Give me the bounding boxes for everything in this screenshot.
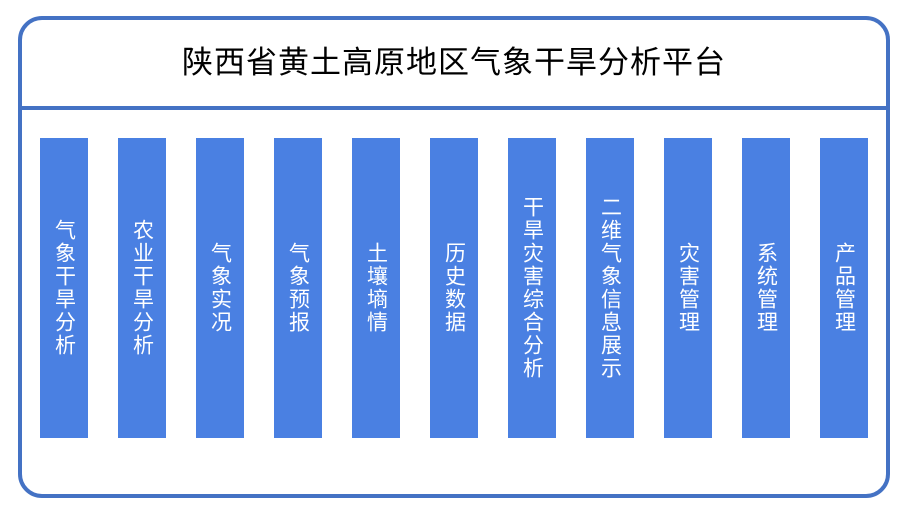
module-bar-label: 系统管理: [753, 242, 780, 334]
module-bar-weather-forecast[interactable]: 气象预报: [274, 138, 322, 438]
page-title: 陕西省黄土高原地区气象干旱分析平台: [182, 46, 726, 80]
title-band: 陕西省黄土高原地区气象干旱分析平台: [22, 20, 886, 106]
module-bar-label: 灾害管理: [675, 242, 702, 334]
diagram-canvas: 陕西省黄土高原地区气象干旱分析平台 气象干旱分析 农业干旱分析 气象实况 气象预…: [0, 0, 908, 517]
module-bar-strip: 气象干旱分析 农业干旱分析 气象实况 气象预报 土壤墒情 历史数据 干旱灾害综合…: [40, 138, 868, 438]
module-bar-agricultural-drought-analysis[interactable]: 农业干旱分析: [118, 138, 166, 438]
module-bar-system-management[interactable]: 系统管理: [742, 138, 790, 438]
module-bar-historical-data[interactable]: 历史数据: [430, 138, 478, 438]
module-bar-label: 二维气象信息展示: [597, 196, 624, 380]
module-bar-meteorological-drought-analysis[interactable]: 气象干旱分析: [40, 138, 88, 438]
module-bar-drought-disaster-comprehensive-analysis[interactable]: 干旱灾害综合分析: [508, 138, 556, 438]
module-bar-label: 气象实况: [207, 242, 234, 334]
module-bar-label: 气象预报: [285, 242, 312, 334]
module-bar-label: 历史数据: [441, 242, 468, 334]
title-divider: [18, 106, 890, 110]
platform-frame: 陕西省黄土高原地区气象干旱分析平台 气象干旱分析 农业干旱分析 气象实况 气象预…: [18, 16, 890, 498]
module-bar-product-management[interactable]: 产品管理: [820, 138, 868, 438]
module-bar-disaster-management[interactable]: 灾害管理: [664, 138, 712, 438]
module-bar-2d-meteorological-information-display[interactable]: 二维气象信息展示: [586, 138, 634, 438]
module-bar-label: 干旱灾害综合分析: [519, 196, 546, 380]
module-bar-label: 土壤墒情: [363, 242, 390, 334]
module-bar-label: 农业干旱分析: [129, 219, 156, 357]
module-bar-soil-moisture[interactable]: 土壤墒情: [352, 138, 400, 438]
module-bar-weather-observation[interactable]: 气象实况: [196, 138, 244, 438]
module-bar-label: 产品管理: [831, 242, 858, 334]
module-bar-label: 气象干旱分析: [51, 219, 78, 357]
